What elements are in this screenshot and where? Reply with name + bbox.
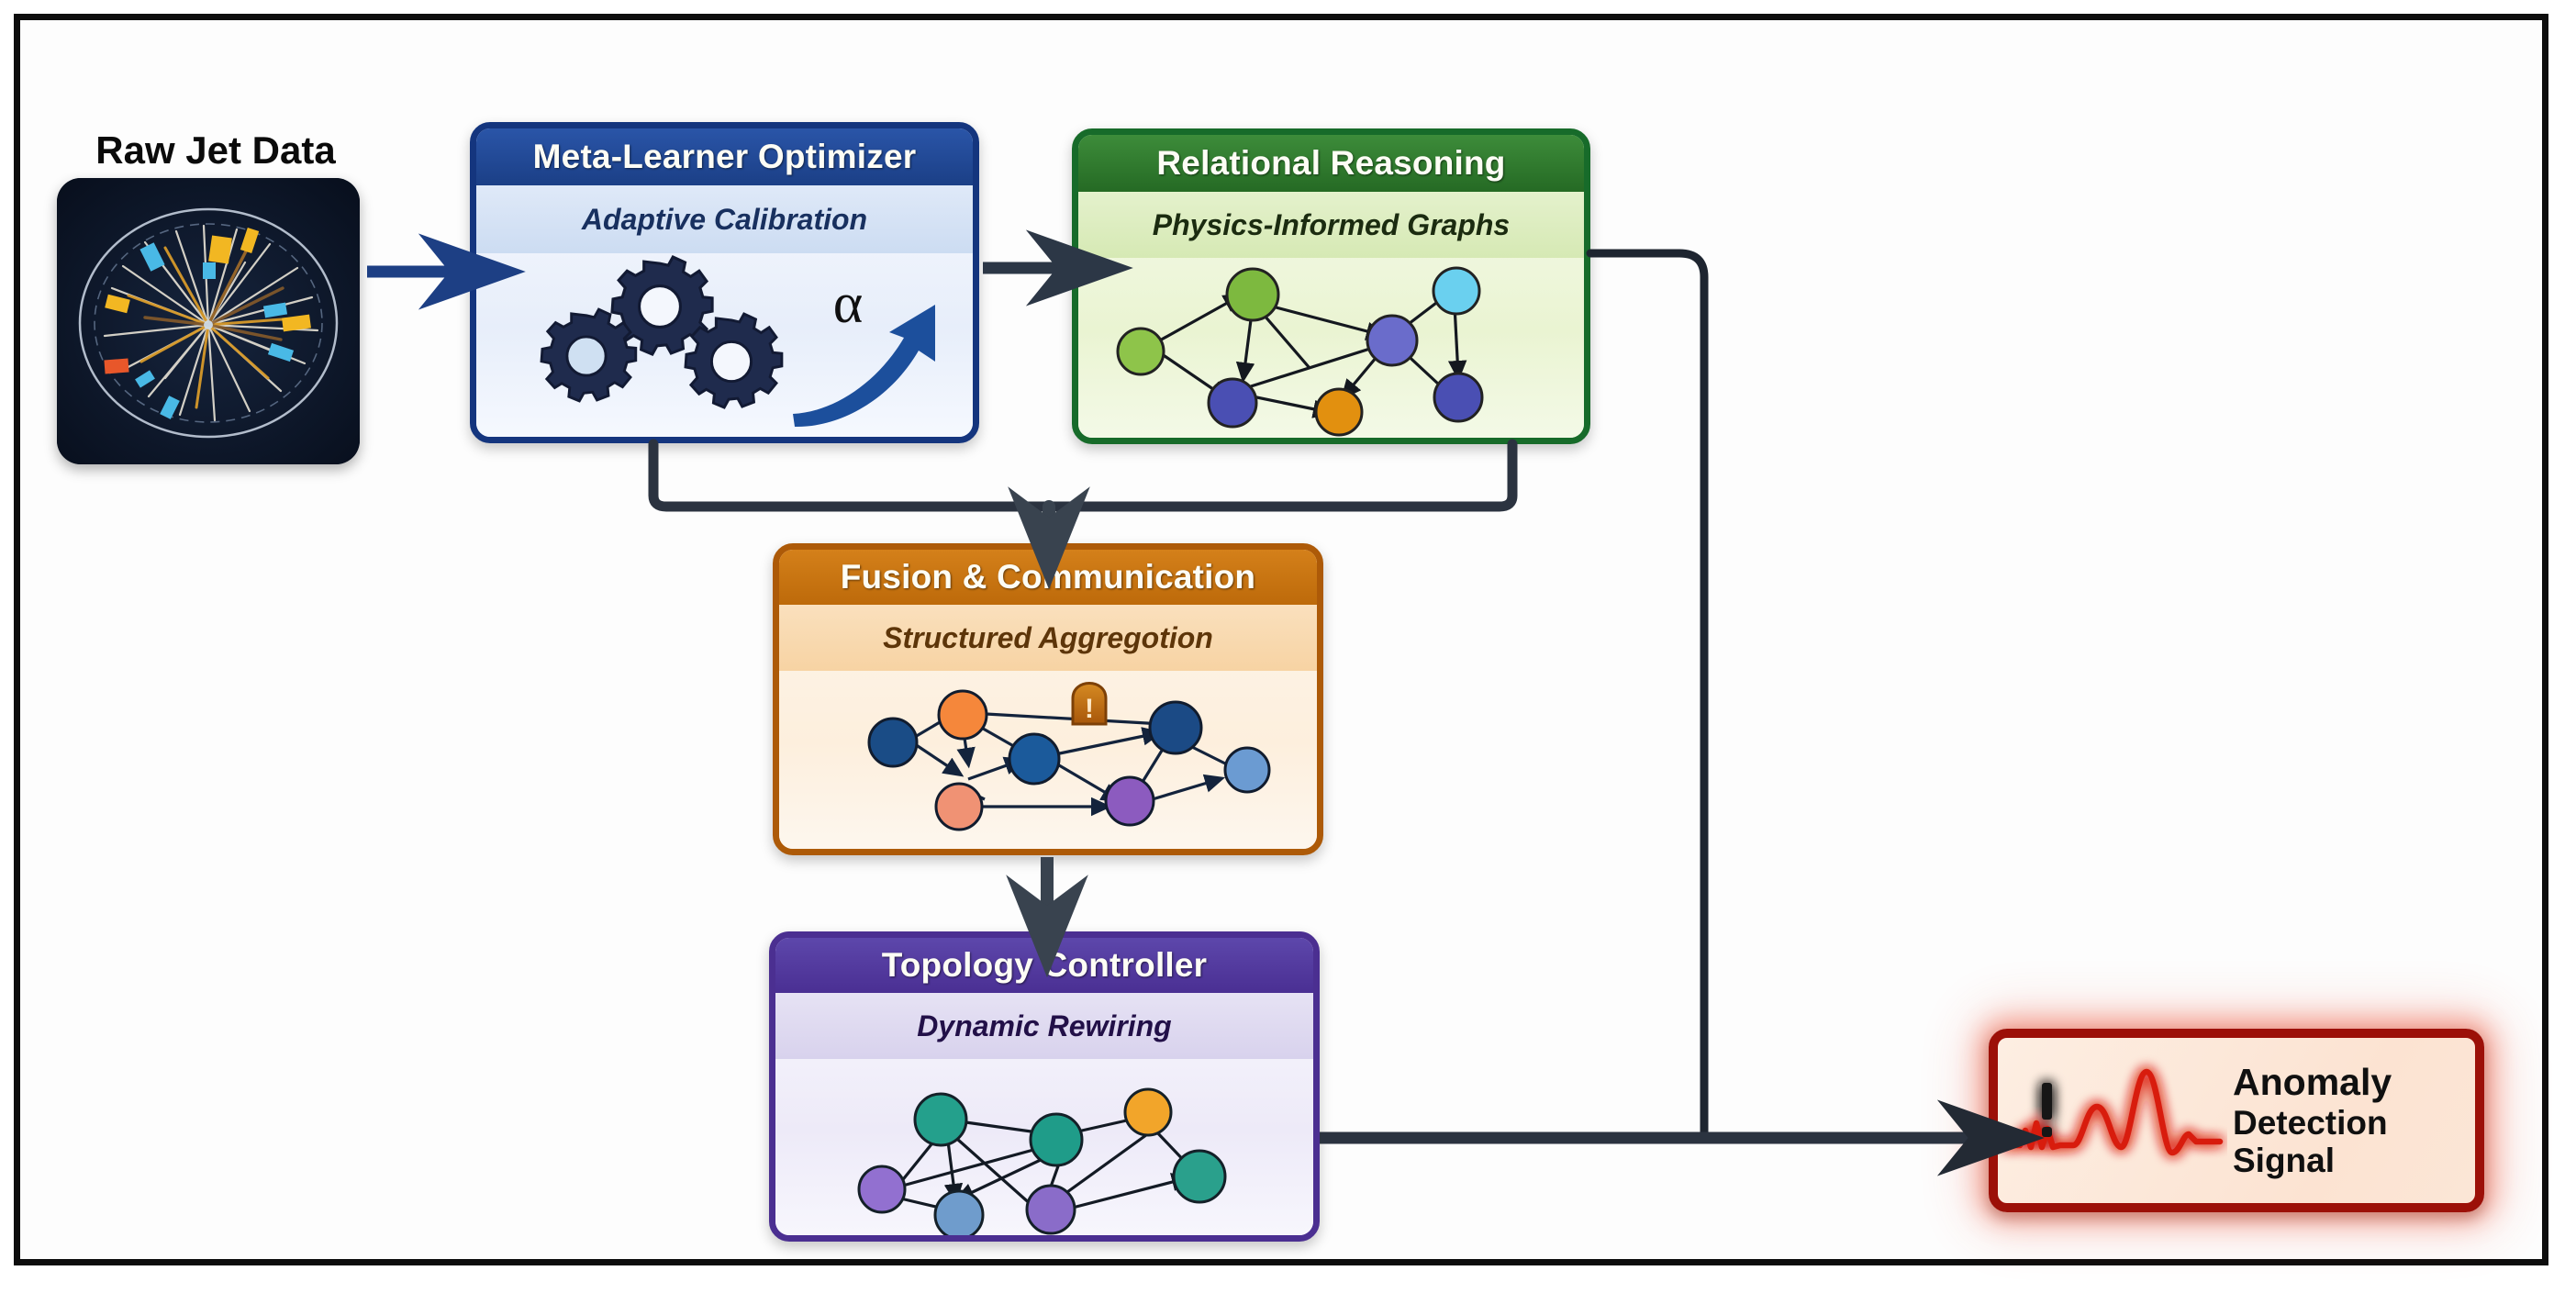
anomaly-waveform-icon — [1998, 1050, 2227, 1192]
meta-learner-title: Meta-Learner Optimizer — [476, 128, 973, 185]
gears-alpha-growth-arrow-icon: α — [476, 253, 973, 441]
meta-learner-body: Adaptive Calibration — [476, 185, 973, 443]
module-meta-learner-optimizer[interactable]: Meta-Learner Optimizer Adaptive Calibrat… — [470, 122, 979, 443]
svg-text:!: ! — [1085, 694, 1094, 724]
anomaly-title: Anomaly — [2233, 1062, 2475, 1104]
topology-controller-subtitle: Dynamic Rewiring — [775, 993, 1313, 1059]
graph-network-icon — [1078, 258, 1584, 442]
relational-reasoning-title: Relational Reasoning — [1078, 135, 1584, 192]
relational-reasoning-subtitle: Physics-Informed Graphs — [1078, 192, 1584, 258]
fusion-communication-title: Fusion & Communication — [779, 550, 1317, 605]
meta-learner-subtitle: Adaptive Calibration — [476, 185, 973, 253]
topology-controller-body: Dynamic Rewiring — [775, 993, 1313, 1242]
anomaly-subtitle: Detection Signal — [2233, 1104, 2475, 1180]
module-topology-controller[interactable]: Topology Controller Dynamic Rewiring — [769, 931, 1320, 1242]
raw-jet-data-label: Raw Jet Data — [55, 128, 376, 173]
jet-event-display-icon — [57, 178, 360, 464]
graph-rewiring-icon — [775, 1059, 1313, 1242]
module-relational-reasoning[interactable]: Relational Reasoning Physics-Informed Gr… — [1072, 128, 1590, 444]
fusion-communication-subtitle: Structured Aggregotion — [779, 605, 1317, 671]
alpha-symbol: α — [833, 273, 863, 335]
anomaly-detection-signal-card[interactable]: Anomaly Detection Signal — [1989, 1029, 2484, 1212]
fusion-communication-body: Structured Aggregotion — [779, 605, 1317, 855]
topology-controller-title: Topology Controller — [775, 938, 1313, 993]
module-fusion-communication[interactable]: Fusion & Communication Structured Aggreg… — [773, 543, 1323, 855]
anomaly-text-block: Anomaly Detection Signal — [2227, 1062, 2475, 1180]
diagram-canvas: Raw Jet Data — [0, 0, 2576, 1293]
relational-reasoning-body: Physics-Informed Graphs — [1078, 192, 1584, 444]
graph-network-alert-icon: ! — [779, 671, 1317, 855]
